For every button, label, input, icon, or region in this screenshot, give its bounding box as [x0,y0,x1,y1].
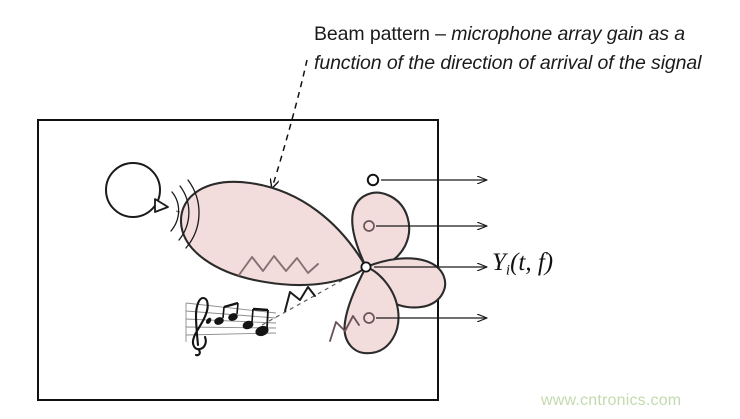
formula-arguments: (t, f) [510,249,553,276]
microphone-4-icon [364,313,374,323]
microphone-2-icon [364,221,374,231]
caption: Beam pattern – microphone array gain as … [314,20,734,78]
formula-symbol: Y [492,249,506,276]
microphone-1-icon [368,175,378,185]
watermark: www.cntronics.com [541,392,681,410]
output-signal-formula: Yi(t, f) [492,249,553,280]
head-icon [106,163,160,217]
caption-lead-text: Beam pattern – [314,23,451,45]
screenshot-root: Beam pattern – microphone array gain as … [0,0,740,419]
microphone-3-icon [361,262,370,271]
